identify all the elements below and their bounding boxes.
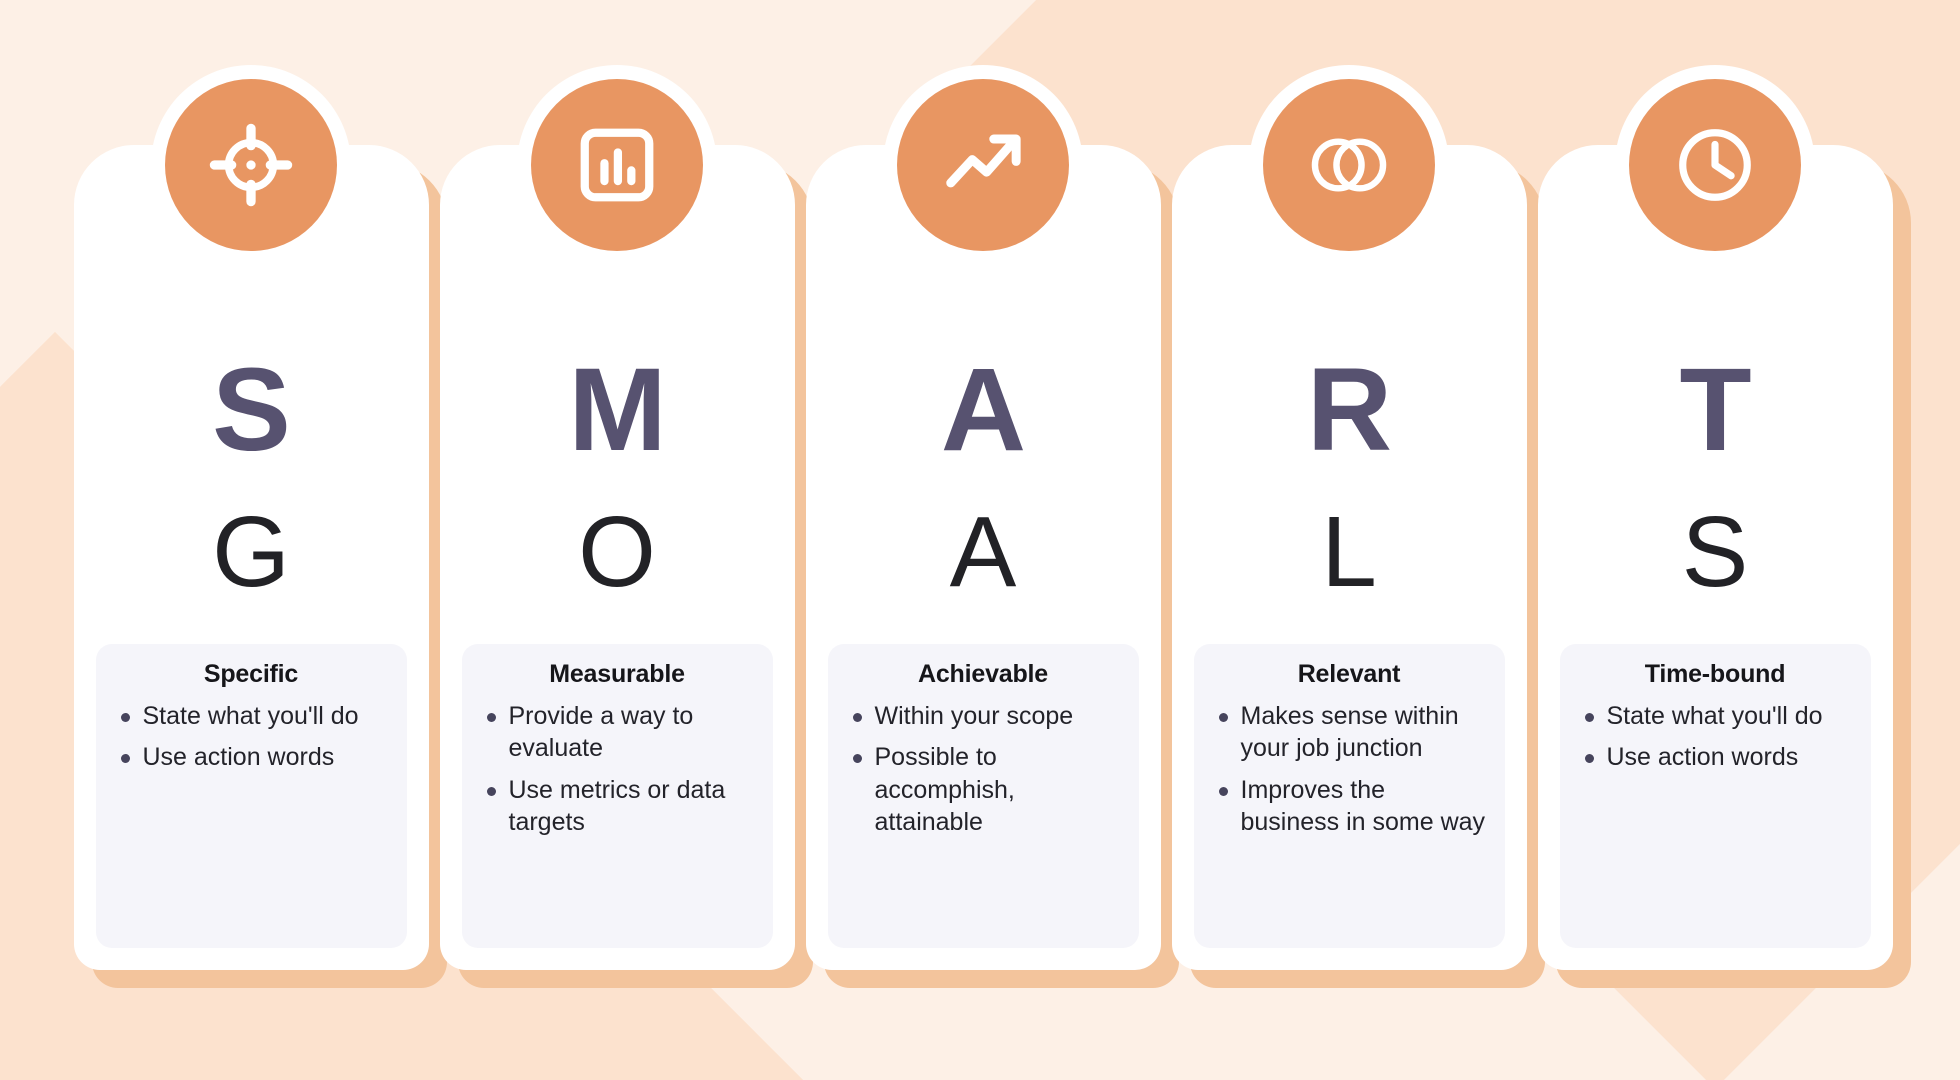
list-item: Use metrics or data targets xyxy=(480,774,755,839)
clock-icon xyxy=(1629,79,1801,251)
smart-card-specific[interactable]: S G Specific State what you'll doUse act… xyxy=(74,145,429,970)
goals-letter: A xyxy=(950,500,1017,604)
panel-bullet-list: Within your scopePossible to accomphish,… xyxy=(846,700,1121,838)
panel-title: Specific xyxy=(114,660,389,689)
venn-diagram-icon xyxy=(1263,79,1435,251)
detail-panel: Specific State what you'll doUse action … xyxy=(96,644,407,948)
card-body[interactable]: S G Specific State what you'll doUse act… xyxy=(74,145,429,970)
list-item: Improves the business in some way xyxy=(1212,774,1487,839)
card-body[interactable]: T S Time-bound State what you'll doUse a… xyxy=(1538,145,1893,970)
goals-letter: G xyxy=(212,500,290,604)
list-item: Provide a way to evaluate xyxy=(480,700,755,765)
smart-letter: T xyxy=(1679,350,1750,470)
target-icon xyxy=(165,79,337,251)
card-body[interactable]: A A Achievable Within your scopePossible… xyxy=(806,145,1161,970)
bar-chart-icon xyxy=(531,79,703,251)
goals-letter: S xyxy=(1682,500,1749,604)
smart-card-time-bound[interactable]: T S Time-bound State what you'll doUse a… xyxy=(1538,145,1893,970)
panel-bullet-list: Provide a way to evaluateUse metrics or … xyxy=(480,700,755,838)
goals-letter: L xyxy=(1321,500,1377,604)
smart-letter: S xyxy=(212,350,290,470)
list-item: Use action words xyxy=(1578,741,1853,773)
panel-bullet-list: Makes sense within your job junctionImpr… xyxy=(1212,700,1487,838)
icon-badge xyxy=(1249,65,1449,265)
smart-letter: M xyxy=(568,350,665,470)
card-body[interactable]: R L Relevant Makes sense within your job… xyxy=(1172,145,1527,970)
detail-panel: Relevant Makes sense within your job jun… xyxy=(1194,644,1505,948)
detail-panel: Time-bound State what you'll doUse actio… xyxy=(1560,644,1871,948)
smart-goals-card-row: S G Specific State what you'll doUse act… xyxy=(0,0,1960,1080)
smart-card-achievable[interactable]: A A Achievable Within your scopePossible… xyxy=(806,145,1161,970)
list-item: Possible to accomphish, attainable xyxy=(846,741,1121,838)
list-item: Within your scope xyxy=(846,700,1121,732)
icon-badge xyxy=(517,65,717,265)
smart-letter: A xyxy=(941,350,1025,470)
panel-title: Time-bound xyxy=(1578,660,1853,689)
list-item: State what you'll do xyxy=(1578,700,1853,732)
detail-panel: Measurable Provide a way to evaluateUse … xyxy=(462,644,773,948)
panel-title: Achievable xyxy=(846,660,1121,689)
smart-card-measurable[interactable]: M O Measurable Provide a way to evaluate… xyxy=(440,145,795,970)
panel-bullet-list: State what you'll doUse action words xyxy=(114,700,389,774)
panel-title: Measurable xyxy=(480,660,755,689)
smart-card-relevant[interactable]: R L Relevant Makes sense within your job… xyxy=(1172,145,1527,970)
icon-badge xyxy=(1615,65,1815,265)
list-item: Use action words xyxy=(114,741,389,773)
list-item: Makes sense within your job junction xyxy=(1212,700,1487,765)
icon-badge xyxy=(883,65,1083,265)
trending-up-icon xyxy=(897,79,1069,251)
card-body[interactable]: M O Measurable Provide a way to evaluate… xyxy=(440,145,795,970)
smart-letter: R xyxy=(1307,350,1391,470)
panel-bullet-list: State what you'll doUse action words xyxy=(1578,700,1853,774)
goals-letter: O xyxy=(578,500,656,604)
list-item: State what you'll do xyxy=(114,700,389,732)
panel-title: Relevant xyxy=(1212,660,1487,689)
detail-panel: Achievable Within your scopePossible to … xyxy=(828,644,1139,948)
icon-badge xyxy=(151,65,351,265)
